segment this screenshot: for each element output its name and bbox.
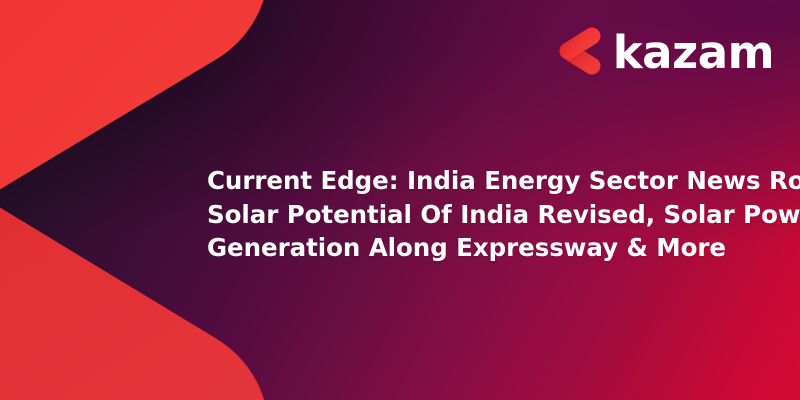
kazam-logo[interactable]: kazam [555,22,774,80]
kazam-chevron-icon [555,25,601,77]
headline-line-2: Solar Potential Of India Revised, Solar … [207,198,767,232]
headline-line-1: Current Edge: India Energy Sector News R… [207,164,767,198]
watermark-stroke-lower [0,198,160,400]
kazam-wordmark: kazam [613,30,774,75]
watermark-stroke-upper [0,0,160,198]
headline-line-3: Generation Along Expressway & More [207,231,767,265]
page-title: Current Edge: India Energy Sector News R… [207,164,767,265]
kazam-article-banner: kazam Current Edge: India Energy Sector … [0,0,800,400]
